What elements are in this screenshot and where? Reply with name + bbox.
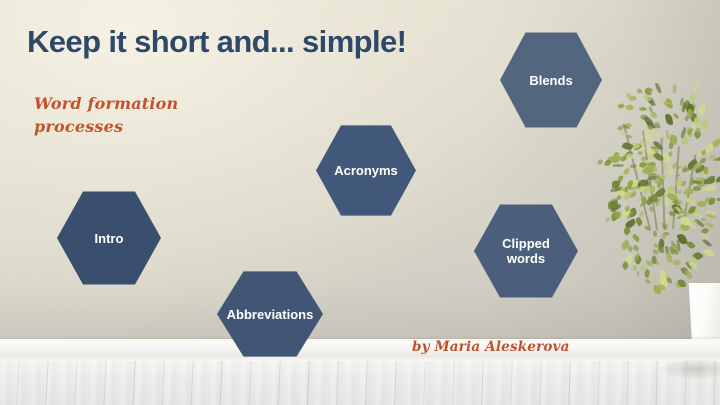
plant-leaf (717, 197, 720, 203)
plant-leaf (672, 84, 677, 93)
plant-leaf (660, 137, 664, 143)
plant-leaf (676, 189, 682, 194)
plant-leaf (657, 247, 663, 253)
plant-leaf (703, 186, 713, 192)
plant-leaf (643, 187, 651, 195)
hexagon-label: Acronyms (326, 163, 406, 178)
plant-leaf (653, 231, 658, 238)
plant-leaf (637, 150, 643, 156)
hexagon-label: Blends (521, 73, 580, 88)
baseboard (0, 339, 720, 363)
plant-leaf (688, 93, 696, 102)
pot-shadow (660, 360, 720, 380)
plant-leaf (640, 106, 648, 112)
floor-grain (0, 361, 720, 405)
plant-leaf (623, 167, 630, 175)
plant-leaf (651, 112, 658, 118)
plant-leaf (659, 270, 666, 280)
baseboard-top-edge (0, 339, 720, 341)
plant-leaf (604, 217, 610, 223)
hexagon-label: Abbreviations (219, 307, 322, 322)
plant-leaf (692, 82, 700, 92)
plant-leaf (665, 114, 673, 125)
hexagon-label: Clipped words (474, 236, 578, 266)
plant-leaf (655, 82, 662, 94)
plant-leaf (647, 176, 657, 180)
plant-leaf (661, 234, 666, 240)
plant-leaf (655, 260, 658, 265)
presentation-slide: IntroAbbreviationsAcronymsClipped wordsB… (0, 0, 720, 405)
plant-leaf (636, 271, 640, 276)
plant-leaf (625, 103, 634, 112)
plant-leaf (637, 88, 643, 94)
plant-leaf (652, 274, 657, 282)
plant-leaf (716, 176, 720, 183)
plant-decoration (596, 52, 720, 302)
slide-subtitle: Word formation processes (34, 92, 234, 138)
plant-leaf (633, 245, 640, 252)
plant-leaf (626, 152, 636, 160)
author-signature: by Maria Aleskerova (412, 339, 570, 355)
plant-leaf (696, 103, 707, 115)
plant-leaf (632, 233, 641, 241)
plant-leaf (713, 158, 719, 162)
wood-floor (0, 361, 720, 405)
plant-leaf (630, 190, 637, 196)
plant-leaf (707, 176, 716, 183)
plant-leaf (672, 113, 679, 120)
plant-leaf (673, 259, 681, 267)
plant-leaf (645, 87, 653, 92)
plant-leaf (695, 127, 701, 133)
plant-leaf (617, 103, 625, 110)
plant-leaf (703, 247, 715, 259)
plant-leaf (700, 149, 706, 155)
plant-leaf (598, 160, 603, 165)
plant-leaf (652, 127, 661, 138)
plant-leaf (652, 249, 658, 254)
plant-leaf (621, 141, 633, 152)
plant-leaf (662, 162, 668, 170)
plant-leaf (646, 279, 651, 284)
plant-leaf (665, 130, 668, 139)
slide-title: Keep it short and... simple! (27, 24, 406, 60)
plant-leaf (708, 197, 715, 205)
plant-leaf (613, 163, 624, 167)
plant-leaf (635, 217, 645, 227)
hexagon-label: Intro (87, 231, 132, 246)
plant-leaf (654, 243, 658, 247)
